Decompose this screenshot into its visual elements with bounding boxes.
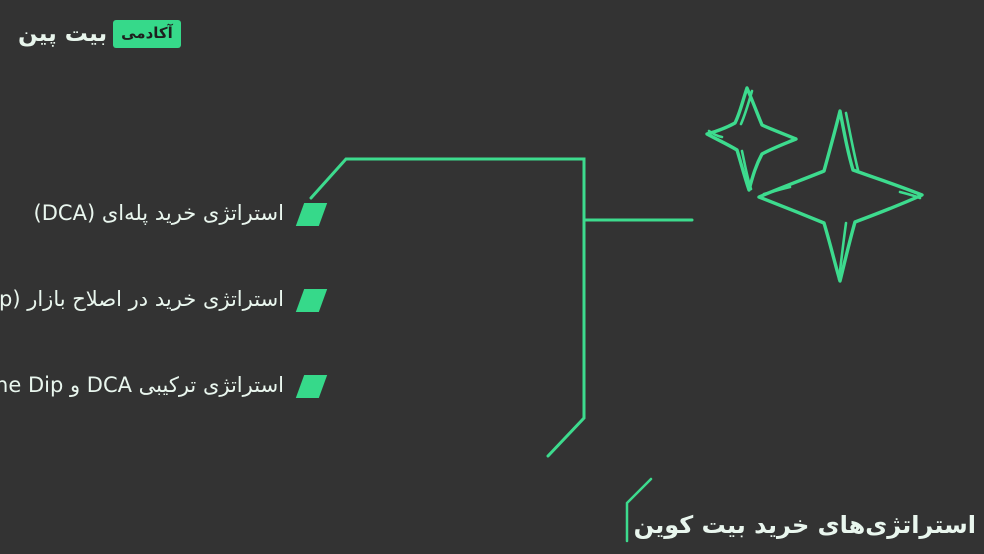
sketch-star-large-accent-top	[846, 113, 858, 170]
page-title: استراتژی‌های خرید بیت کوین	[634, 511, 976, 540]
parallelogram-bullet-icon	[296, 289, 327, 312]
logo-brand-word: بیت پین	[18, 23, 107, 46]
sketch-star-large-icon	[759, 111, 922, 281]
logo-academy-badge: آکادمی	[113, 20, 181, 48]
decorative-stars-group	[700, 55, 930, 285]
slide-canvas: آکادمی بیت پین استراتژ	[0, 0, 984, 554]
list-item[interactable]: استراتژی خرید پله‌ای (DCA)	[0, 190, 560, 238]
sketch-star-small-accent-left	[709, 131, 722, 137]
sketch-star-small-accent-bottom	[742, 151, 751, 189]
strategy-list: استراتژی خرید پله‌ای (DCA) استراتژی خرید…	[0, 190, 560, 448]
brand-logo[interactable]: آکادمی بیت پین	[18, 20, 181, 48]
page-title-text: استراتژی‌های خرید بیت کوین	[634, 511, 976, 540]
sketch-star-small-icon	[707, 88, 796, 190]
list-item-label: استراتژی خرید پله‌ای (DCA)	[34, 199, 284, 228]
parallelogram-bullet-icon	[296, 203, 327, 226]
sketch-star-large-accent-left	[764, 187, 790, 194]
sketch-star-large-accent-right	[900, 192, 920, 198]
parallelogram-bullet-icon	[296, 375, 327, 398]
sketch-star-small-accent-top	[741, 91, 752, 124]
list-item-label: استراتژی ترکیبی DCA و Buy the Dip	[0, 371, 284, 400]
list-item[interactable]: استراتژی ترکیبی DCA و Buy the Dip	[0, 362, 560, 410]
list-item[interactable]: استراتژی خرید در اصلاح بازار (Buy the Di…	[0, 276, 560, 324]
list-item-label: استراتژی خرید در اصلاح بازار (Buy the Di…	[0, 285, 284, 314]
sketch-star-large-accent-bottom	[839, 223, 846, 279]
